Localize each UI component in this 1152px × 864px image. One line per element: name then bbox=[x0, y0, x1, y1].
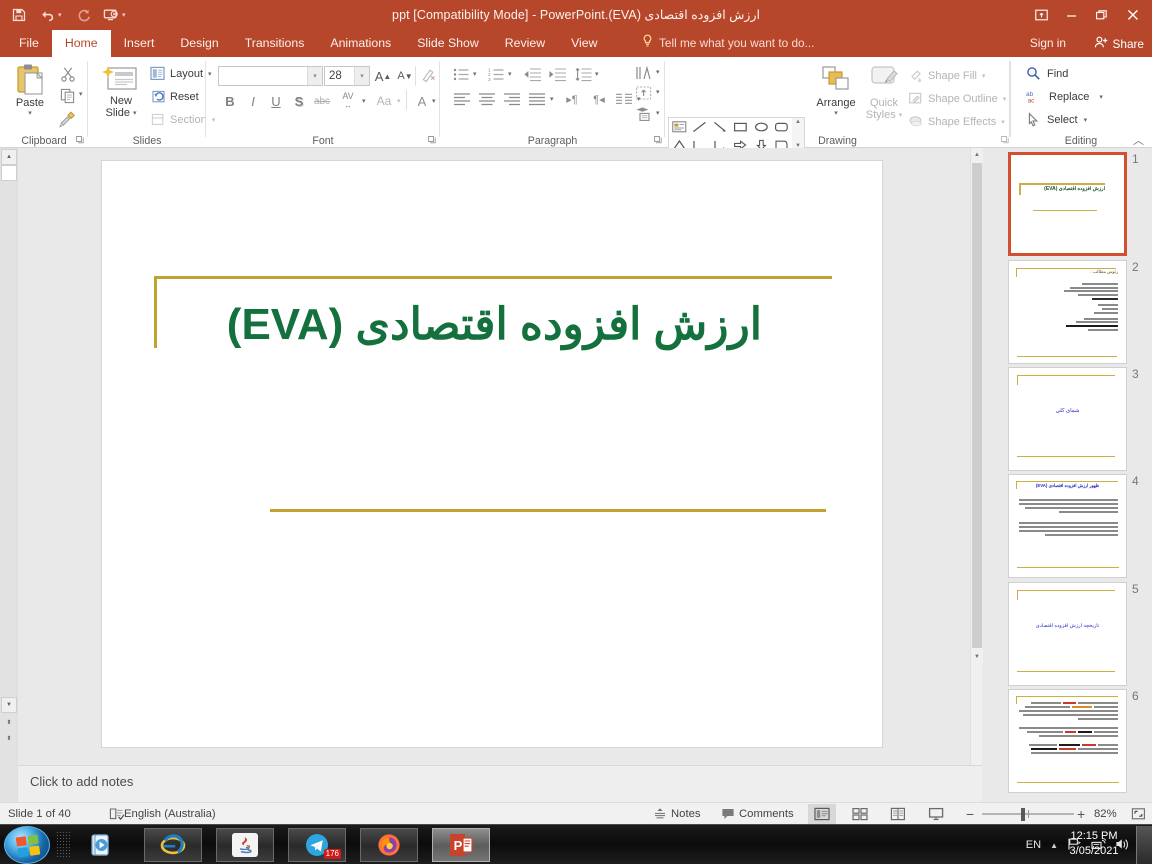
tab-file[interactable]: File bbox=[6, 30, 52, 57]
thumbnail-slide-6[interactable] bbox=[1008, 689, 1127, 793]
paste-label: Paste bbox=[16, 97, 44, 109]
slide-counter[interactable]: Slide 1 of 40 bbox=[8, 803, 71, 825]
taskbar-item-powerpoint[interactable]: P bbox=[432, 828, 490, 862]
quick-styles-button[interactable]: Quick Styles ▾ bbox=[860, 65, 908, 121]
group-label-editing: Editing bbox=[1010, 135, 1152, 147]
scroll-thumb[interactable] bbox=[1, 165, 17, 181]
lightbulb-icon bbox=[642, 30, 653, 57]
zoom-level-label[interactable]: 82% bbox=[1094, 803, 1117, 825]
thumbnail-slide-1[interactable]: ارزش افزوده اقتصادی (EVA) bbox=[1008, 152, 1127, 256]
ribbon-tabs: File Home Insert Design Transitions Anim… bbox=[6, 30, 611, 57]
shape-effects-label: Shape Effects bbox=[928, 116, 996, 128]
character-spacing-button[interactable]: AV↔ bbox=[335, 89, 361, 112]
increase-font-size-icon[interactable]: A▲ bbox=[372, 66, 394, 86]
font-size-dropdown-caret[interactable]: ▾ bbox=[354, 67, 369, 85]
arrange-label: Arrange bbox=[816, 97, 855, 109]
share-button[interactable]: Share bbox=[1094, 30, 1144, 57]
tab-review[interactable]: Review bbox=[492, 30, 558, 57]
italic-button[interactable]: I bbox=[243, 91, 263, 111]
tab-transitions[interactable]: Transitions bbox=[232, 30, 318, 57]
slide-decor-top-rule bbox=[154, 276, 832, 279]
new-slide-button[interactable]: New Slide ▾ bbox=[96, 63, 146, 119]
show-hidden-icons-icon[interactable]: ▲ bbox=[1050, 841, 1058, 850]
share-label: Share bbox=[1113, 37, 1144, 51]
previous-slide-button[interactable]: ⬍ bbox=[1, 714, 17, 730]
language-indicator[interactable]: English (Australia) bbox=[124, 803, 216, 825]
text-direction-icon[interactable] bbox=[632, 63, 656, 83]
new-slide-label-1: New bbox=[110, 95, 132, 107]
ribbon-group-font: ▾ 28 ▾ A▲ A▼ B I U S abc AV↔ ▾ Aa ▾ A ▾ bbox=[206, 57, 440, 148]
ltr-text-direction-icon[interactable]: ▸¶ bbox=[560, 89, 584, 109]
arrange-button[interactable]: Arrange ▾ bbox=[810, 65, 862, 117]
layout-button[interactable]: Layout ▾ bbox=[150, 64, 212, 83]
shape-textbox-icon[interactable] bbox=[669, 118, 690, 136]
decrease-font-size-icon[interactable]: A▼ bbox=[394, 66, 416, 86]
section-label: Section bbox=[170, 114, 207, 126]
quick-styles-caret[interactable]: ▾ bbox=[899, 111, 903, 119]
thumbnail-slide-3[interactable]: شمای کلی bbox=[1008, 367, 1127, 471]
thumbnail-number-6: 6 bbox=[1132, 689, 1139, 703]
reset-button[interactable]: Reset bbox=[150, 87, 199, 106]
paragraph-dialog-launcher[interactable] bbox=[654, 136, 662, 146]
new-slide-label-2: Slide bbox=[106, 107, 130, 119]
shape-effects-caret[interactable]: ▾ bbox=[1001, 118, 1005, 126]
reset-label: Reset bbox=[170, 91, 199, 103]
ribbon-group-paragraph: ▾ 123 ▾ ▾ bbox=[440, 57, 665, 148]
font-color-button[interactable]: A bbox=[412, 91, 432, 111]
comments-button-label: Comments bbox=[739, 808, 794, 820]
window-controls bbox=[1026, 0, 1150, 30]
taskbar-item-windows-media-player[interactable] bbox=[72, 828, 130, 862]
slide-editing-pane: ارزش افزوده اقتصادی (EVA) bbox=[18, 148, 982, 765]
paste-button[interactable]: Paste ▾ bbox=[6, 63, 54, 117]
align-left-icon[interactable] bbox=[450, 89, 474, 109]
show-desktop-button[interactable] bbox=[1136, 826, 1152, 864]
select-button[interactable]: Select ▾ bbox=[1026, 110, 1087, 129]
decrease-indent-icon[interactable] bbox=[520, 64, 544, 84]
svg-text:3: 3 bbox=[488, 76, 491, 81]
font-size-input[interactable]: 28 ▾ bbox=[324, 66, 370, 86]
thumbnail-slide-5[interactable]: تاریخچه ارزش افزوده اقتصادی bbox=[1008, 582, 1127, 686]
replace-label: Replace bbox=[1049, 91, 1089, 103]
format-painter-icon[interactable] bbox=[56, 109, 78, 129]
slide-scroll-down-icon[interactable]: ▼ bbox=[971, 650, 983, 664]
clipboard-dialog-launcher[interactable] bbox=[76, 136, 84, 146]
collapse-ribbon-icon[interactable]: ︿ bbox=[1133, 132, 1144, 148]
font-name-input[interactable]: ▾ bbox=[218, 66, 323, 86]
justify-icon[interactable] bbox=[525, 89, 549, 109]
increase-indent-icon[interactable] bbox=[545, 64, 569, 84]
justify-caret[interactable]: ▾ bbox=[550, 95, 554, 103]
scroll-up-button[interactable]: ▲ bbox=[1, 149, 17, 165]
notes-button-label: Notes bbox=[671, 808, 701, 820]
current-slide[interactable]: ارزش افزوده اقتصادی (EVA) bbox=[101, 160, 883, 748]
slide-sorter-view-button[interactable] bbox=[846, 804, 874, 824]
taskbar-grip bbox=[56, 831, 70, 859]
shape-arrow-icon[interactable] bbox=[710, 118, 731, 136]
clock-date: 3/05/2021 bbox=[1062, 844, 1126, 859]
text-direction-caret[interactable]: ▾ bbox=[656, 68, 660, 76]
tab-animations[interactable]: Animations bbox=[317, 30, 404, 57]
normal-view-button[interactable] bbox=[808, 804, 836, 824]
notes-placeholder: Click to add notes bbox=[30, 774, 133, 789]
reading-view-button[interactable] bbox=[884, 804, 912, 824]
title-bar: ▾ ▾ ارزش افزوده اقتصادی (EVA).ppt [Compa… bbox=[0, 0, 1152, 30]
taskbar: 176 P EN ▲ 12:15 PM 3/05/2021 bbox=[0, 824, 1152, 864]
slide-scroll-thumb[interactable] bbox=[972, 163, 982, 648]
strikethrough-button[interactable]: abc bbox=[310, 91, 334, 111]
next-slide-button[interactable]: ⬍ bbox=[1, 730, 17, 746]
ribbon-group-slides: New Slide ▾ Layout ▾ Reset Section ▾ Sli bbox=[88, 57, 206, 148]
zoom-out-button[interactable]: − bbox=[966, 803, 974, 825]
copy-icon[interactable] bbox=[58, 86, 78, 106]
select-caret[interactable]: ▾ bbox=[1084, 116, 1088, 124]
shape-outline-caret[interactable]: ▾ bbox=[1003, 95, 1007, 103]
thumbnail-number-5: 5 bbox=[1132, 582, 1139, 596]
select-label: Select bbox=[1047, 114, 1078, 126]
start-orb-icon[interactable] bbox=[4, 826, 50, 864]
restore-button[interactable] bbox=[1086, 1, 1116, 29]
svg-text:ac: ac bbox=[1028, 98, 1036, 104]
group-label-paragraph: Paragraph bbox=[440, 135, 665, 147]
group-label-clipboard: Clipboard bbox=[0, 135, 88, 147]
slide-scroll-up-icon[interactable]: ▲ bbox=[971, 148, 983, 162]
thumbnail-4-title: ظهور ارزش افزوده اقتصادی (EVA) bbox=[1009, 483, 1126, 489]
slide-title-text[interactable]: ارزش افزوده اقتصادی (EVA) bbox=[162, 299, 762, 350]
shape-fill-caret[interactable]: ▾ bbox=[982, 72, 986, 80]
shape-line-icon[interactable] bbox=[690, 118, 711, 136]
telegram-badge: 176 bbox=[324, 849, 341, 859]
thumbnail-5-title: تاریخچه ارزش افزوده اقتصادی bbox=[1009, 623, 1126, 629]
ribbon: Paste ▾ ▾ Clipboard New bbox=[0, 57, 1152, 148]
shape-fill-button[interactable]: Shape Fill ▾ bbox=[908, 66, 985, 85]
slide-thumbnail-pane[interactable]: ارزش افزوده اقتصادی (EVA) 1 رئوس مطالب : bbox=[984, 148, 1152, 802]
align-right-icon[interactable] bbox=[500, 89, 524, 109]
replace-caret[interactable]: ▾ bbox=[1099, 93, 1103, 101]
zoom-in-button[interactable]: + bbox=[1077, 803, 1085, 825]
powerpoint-window: ▾ ▾ ارزش افزوده اقتصادی (EVA).ppt [Compa… bbox=[0, 0, 1152, 864]
window-title: ارزش افزوده اقتصادی (EVA).ppt [Compatibi… bbox=[0, 0, 1152, 30]
clock-time: 12:15 PM bbox=[1062, 829, 1126, 844]
ribbon-display-options-icon[interactable] bbox=[1026, 1, 1056, 29]
sign-in-button[interactable]: Sign in bbox=[1030, 30, 1066, 57]
font-color-caret[interactable]: ▾ bbox=[432, 97, 436, 105]
group-label-slides: Slides bbox=[88, 135, 206, 147]
tab-design[interactable]: Design bbox=[167, 30, 231, 57]
thumbnail-number-2: 2 bbox=[1132, 260, 1139, 274]
underline-button[interactable]: U bbox=[266, 91, 286, 111]
work-area: ▲ ▼ ⬍ ⬍ ارزش افزوده اقتصادی (EVA) ▲ ▼ Cl… bbox=[0, 148, 1152, 802]
notes-pane[interactable]: Click to add notes bbox=[18, 765, 982, 802]
thumbnail-1-title: ارزش افزوده اقتصادی (EVA) bbox=[1019, 186, 1105, 192]
copy-dropdown-caret[interactable]: ▾ bbox=[79, 90, 83, 98]
align-text-caret[interactable]: ▾ bbox=[656, 88, 660, 96]
thumbnail-number-3: 3 bbox=[1132, 367, 1139, 381]
quick-styles-label-1: Quick bbox=[870, 97, 898, 109]
bullets-icon[interactable] bbox=[450, 64, 472, 84]
minimize-button[interactable] bbox=[1056, 1, 1086, 29]
arrange-caret[interactable]: ▾ bbox=[834, 109, 838, 117]
bullets-caret[interactable]: ▾ bbox=[473, 70, 477, 78]
slide-decor-bottom-rule bbox=[270, 509, 826, 512]
ribbon-group-clipboard: Paste ▾ ▾ Clipboard bbox=[0, 57, 88, 148]
align-center-icon[interactable] bbox=[475, 89, 499, 109]
thumbnail-number-1: 1 bbox=[1132, 152, 1139, 166]
ribbon-tab-row: File Home Insert Design Transitions Anim… bbox=[0, 30, 1152, 57]
smartart-caret[interactable]: ▾ bbox=[656, 109, 660, 117]
cut-icon[interactable] bbox=[58, 64, 78, 84]
shape-oval-icon[interactable] bbox=[751, 118, 772, 136]
replace-button[interactable]: abac Replace ▾ bbox=[1026, 87, 1103, 106]
drawing-dialog-launcher[interactable] bbox=[1001, 136, 1009, 146]
text-shadow-button[interactable]: S bbox=[289, 91, 309, 111]
character-spacing-caret[interactable]: ▾ bbox=[362, 97, 366, 105]
line-spacing-icon[interactable] bbox=[572, 64, 594, 84]
thumbnail-slide-4[interactable]: ظهور ارزش افزوده اقتصادی (EVA) bbox=[1008, 474, 1127, 578]
scroll-down-button[interactable]: ▼ bbox=[1, 697, 17, 713]
numbering-caret[interactable]: ▾ bbox=[508, 70, 512, 78]
svg-text:P: P bbox=[454, 838, 463, 853]
find-label: Find bbox=[1047, 68, 1068, 80]
tab-slide-show[interactable]: Slide Show bbox=[404, 30, 492, 57]
convert-to-smartart-icon[interactable] bbox=[632, 104, 656, 124]
gallery-scroll-up-icon[interactable]: ▲ bbox=[795, 119, 801, 125]
shape-outline-button[interactable]: Shape Outline ▾ bbox=[908, 89, 1006, 108]
thumbnail-2-title: رئوس مطالب : bbox=[1090, 269, 1118, 275]
taskbar-clock[interactable]: 12:15 PM 3/05/2021 bbox=[1062, 829, 1126, 859]
shape-outline-label: Shape Outline bbox=[928, 93, 998, 105]
outline-pane-scrollbar[interactable]: ▲ ▼ ⬍ ⬍ bbox=[0, 148, 18, 802]
numbering-icon[interactable]: 123 bbox=[485, 64, 507, 84]
ribbon-group-editing: Find abac Replace ▾ Select ▾ Editing ︿ bbox=[1010, 57, 1152, 148]
person-share-icon bbox=[1094, 35, 1108, 52]
line-spacing-caret[interactable]: ▾ bbox=[595, 70, 599, 78]
slide-decor-left-rule bbox=[154, 276, 157, 348]
zoom-slider-thumb[interactable] bbox=[1021, 808, 1025, 821]
clear-formatting-icon[interactable] bbox=[418, 66, 438, 86]
shape-rectangle-icon[interactable] bbox=[731, 118, 752, 136]
slide-pane-scrollbar[interactable]: ▲ ▼ bbox=[970, 148, 982, 802]
language-indicator-tray[interactable]: EN bbox=[1026, 839, 1041, 851]
tell-me-search[interactable]: Tell me what you want to do... bbox=[642, 30, 814, 57]
tell-me-label: Tell me what you want to do... bbox=[659, 30, 814, 57]
thumbnail-number-4: 4 bbox=[1132, 474, 1139, 488]
taskbar-item-firefox[interactable] bbox=[360, 828, 418, 862]
taskbar-item-java[interactable] bbox=[216, 828, 274, 862]
group-label-font: Font bbox=[206, 135, 440, 147]
fit-slide-to-window-icon[interactable] bbox=[1126, 804, 1151, 824]
comments-button[interactable]: Comments bbox=[716, 804, 799, 824]
layout-label: Layout bbox=[170, 68, 203, 80]
bold-button[interactable]: B bbox=[220, 91, 240, 111]
zoom-slider-tick bbox=[1028, 810, 1029, 818]
close-button[interactable] bbox=[1116, 1, 1150, 29]
thumbnail-slide-2[interactable]: رئوس مطالب : bbox=[1008, 260, 1127, 364]
change-case-button[interactable]: Aa bbox=[372, 91, 396, 111]
font-size-value: 28 bbox=[325, 70, 354, 82]
shape-fill-label: Shape Fill bbox=[928, 70, 977, 82]
slide-show-view-button[interactable] bbox=[922, 804, 950, 824]
new-slide-dropdown-caret[interactable]: ▾ bbox=[133, 109, 137, 117]
thumbnail-3-title: شمای کلی bbox=[1009, 408, 1126, 414]
taskbar-item-internet-explorer[interactable] bbox=[144, 828, 202, 862]
notes-button[interactable]: Notes bbox=[648, 804, 706, 824]
taskbar-item-telegram[interactable]: 176 bbox=[288, 828, 346, 862]
status-bar: Slide 1 of 40 English (Australia) Notes … bbox=[0, 802, 1152, 824]
shape-effects-button[interactable]: Shape Effects ▾ bbox=[908, 112, 1005, 131]
tab-insert[interactable]: Insert bbox=[111, 30, 168, 57]
tab-view[interactable]: View bbox=[558, 30, 610, 57]
align-text-icon[interactable] bbox=[632, 83, 656, 103]
tab-home[interactable]: Home bbox=[52, 30, 111, 57]
find-button[interactable]: Find bbox=[1026, 64, 1068, 83]
font-name-dropdown-caret[interactable]: ▾ bbox=[307, 67, 322, 85]
quick-styles-label-2: Styles bbox=[866, 109, 896, 121]
paste-dropdown-caret[interactable]: ▾ bbox=[28, 109, 32, 117]
shape-rounded-rectangle-icon[interactable] bbox=[772, 118, 793, 136]
rtl-text-direction-icon[interactable]: ¶◂ bbox=[587, 89, 611, 109]
change-case-caret[interactable]: ▾ bbox=[397, 97, 401, 105]
font-dialog-launcher[interactable] bbox=[428, 136, 436, 146]
